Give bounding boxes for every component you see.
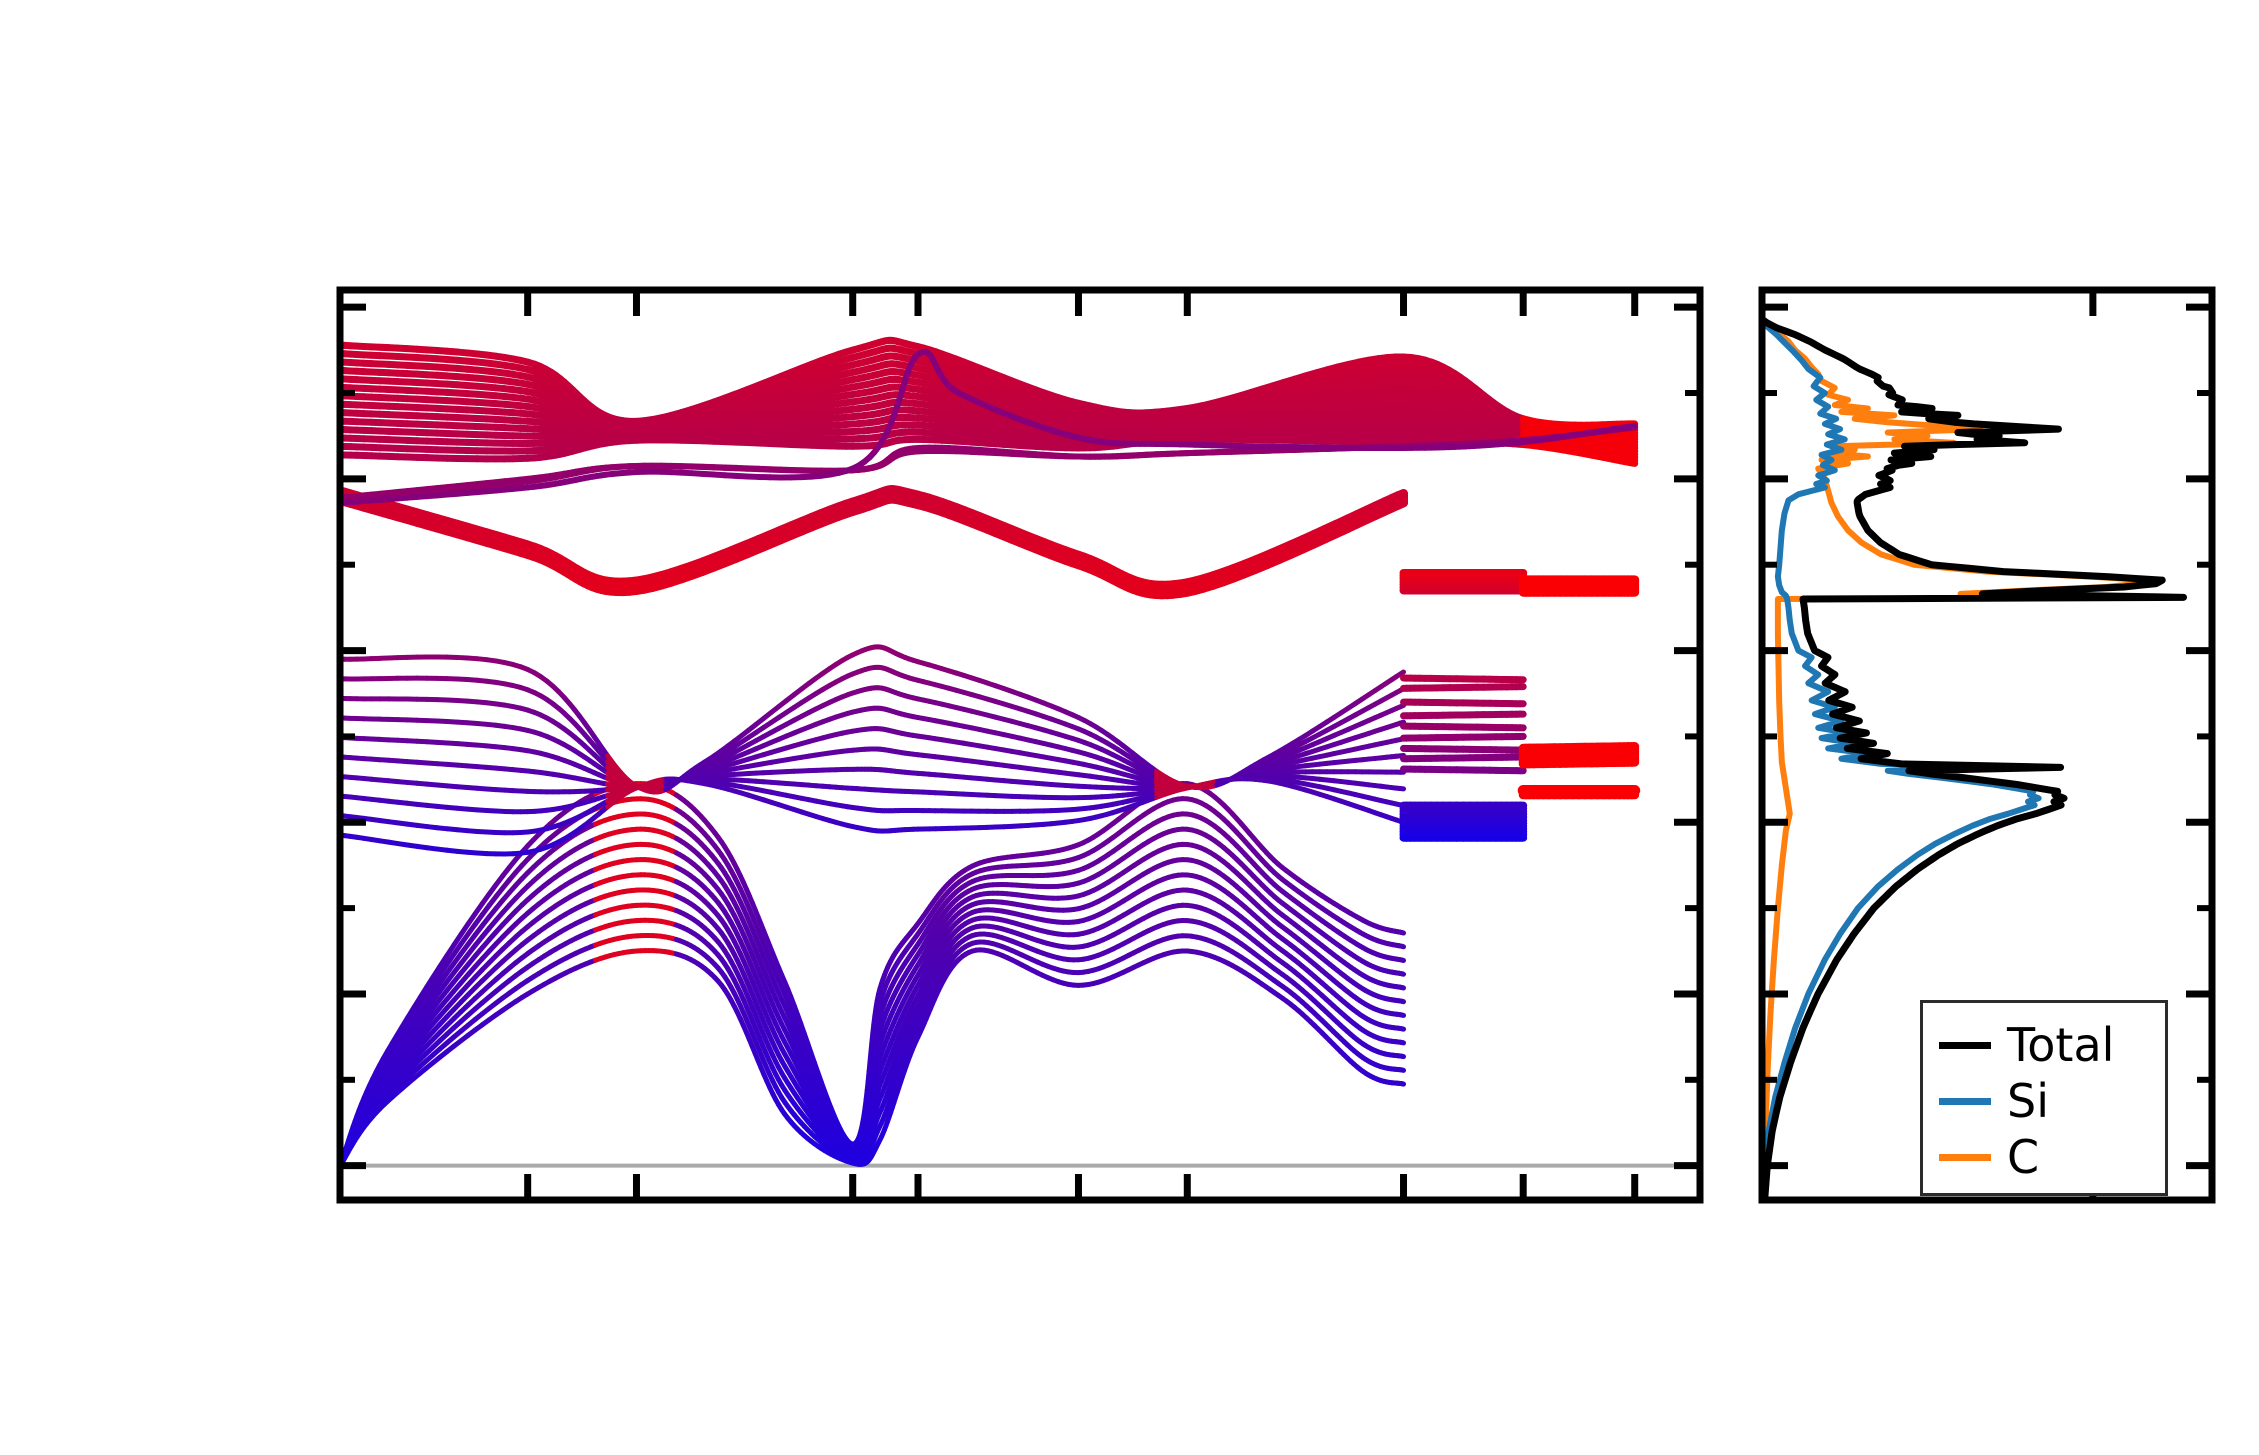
mask-right bbox=[2212, 290, 2259, 1200]
legend-label-c: C bbox=[2007, 1134, 2039, 1180]
legend-item-c[interactable]: C bbox=[1923, 1129, 2165, 1185]
figure-root: Participation Ratio 0.25 0.50 0.75 1.00 … bbox=[0, 0, 2259, 1455]
mask-bottom bbox=[0, 1200, 2259, 1455]
plot-canvas bbox=[0, 0, 2259, 1455]
legend-swatch-si bbox=[1939, 1098, 1991, 1105]
legend-label-total: Total bbox=[2007, 1022, 2114, 1068]
mask-mid bbox=[1700, 290, 1762, 1200]
band-curve bbox=[1404, 726, 1524, 728]
band-curve bbox=[1404, 757, 1524, 759]
band-curve bbox=[1404, 714, 1524, 716]
band-curve bbox=[1404, 736, 1524, 738]
band-curve bbox=[1404, 678, 1524, 680]
legend-swatch-c bbox=[1939, 1154, 1991, 1161]
mask-top bbox=[0, 0, 2259, 290]
dos-legend: Total Si C bbox=[1920, 1000, 2168, 1196]
band-curve bbox=[1523, 747, 1635, 749]
legend-swatch-total bbox=[1939, 1042, 1991, 1049]
legend-item-si[interactable]: Si bbox=[1923, 1073, 2165, 1129]
band-curve bbox=[1404, 702, 1524, 704]
band-curve bbox=[1404, 748, 1524, 750]
legend-item-total[interactable]: Total bbox=[1923, 1017, 2165, 1073]
band-curve bbox=[1404, 769, 1524, 771]
band-curve bbox=[1404, 687, 1524, 689]
mask-left bbox=[0, 290, 340, 1200]
legend-label-si: Si bbox=[2007, 1078, 2049, 1124]
